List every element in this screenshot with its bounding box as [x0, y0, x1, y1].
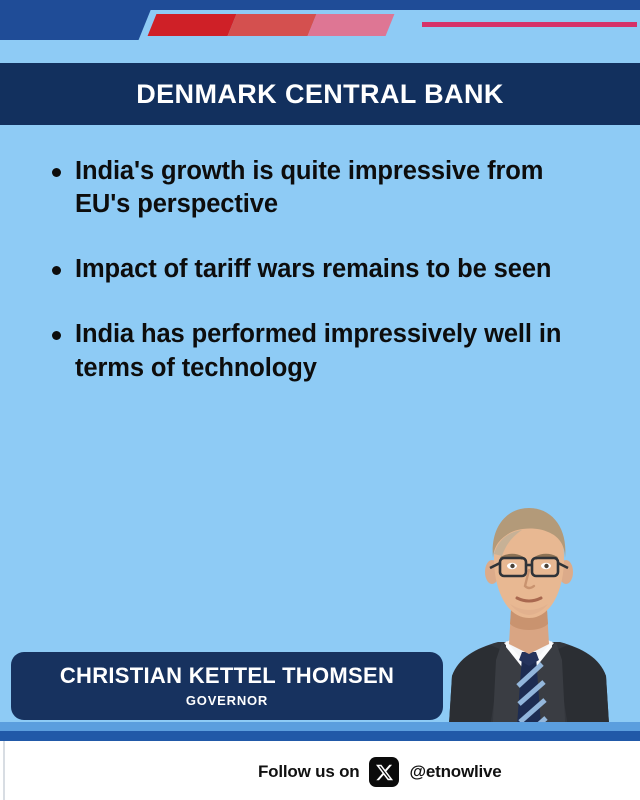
person-role: GOVERNOR	[186, 693, 268, 708]
news-card: DENMARK CENTRAL BANK India's growth is q…	[0, 0, 640, 800]
page-title: DENMARK CENTRAL BANK	[136, 79, 504, 110]
portrait-photo	[418, 500, 640, 740]
bullet-dot-icon	[52, 266, 61, 275]
bullet-dot-icon	[52, 168, 61, 177]
decor-parallelogram-pink	[308, 14, 395, 36]
decor-accent-line	[422, 22, 637, 27]
name-plate: CHRISTIAN KETTEL THOMSEN GOVERNOR	[11, 652, 443, 720]
decorative-band	[0, 10, 640, 40]
footer-bar: Follow us on @etnowlive E T N O W	[0, 741, 640, 800]
decor-parallelogram-red-mid	[228, 14, 317, 36]
follow-us-label: Follow us on	[258, 762, 359, 782]
x-logo-icon[interactable]	[369, 757, 399, 787]
list-item: India's growth is quite impressive from …	[0, 155, 620, 221]
person-name: CHRISTIAN KETTEL THOMSEN	[60, 664, 394, 688]
footer-divider	[3, 741, 5, 800]
list-item: India has performed impressively well in…	[0, 318, 620, 384]
headline-bar: DENMARK CENTRAL BANK	[0, 63, 640, 125]
top-accent-strip	[0, 0, 640, 10]
bullet-list: India's growth is quite impressive from …	[0, 155, 620, 417]
footer-band-light	[0, 722, 640, 731]
follow-us-group: Follow us on @etnowlive	[258, 757, 502, 787]
decor-parallelogram-red	[148, 14, 237, 36]
social-handle[interactable]: @etnowlive	[409, 762, 501, 782]
footer-band-blue	[0, 731, 640, 741]
decor-parallelogram-navy	[0, 10, 151, 40]
bullet-text: India's growth is quite impressive from …	[75, 155, 595, 221]
list-item: Impact of tariff wars remains to be seen	[0, 253, 620, 286]
bullet-text: India has performed impressively well in…	[75, 318, 595, 384]
bullet-text: Impact of tariff wars remains to be seen	[75, 253, 551, 286]
bullet-dot-icon	[52, 331, 61, 340]
